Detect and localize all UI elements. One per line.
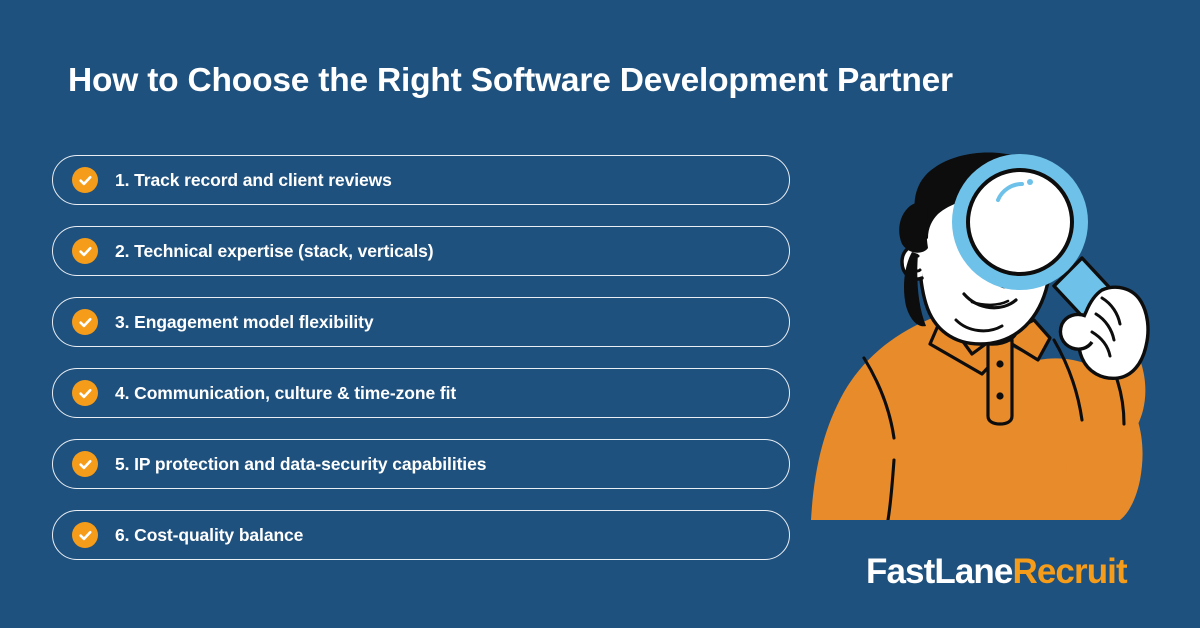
shirt-button [996,360,1003,367]
check-circle-icon [72,380,98,406]
list-item-label: 4. Communication, culture & time-zone fi… [115,383,456,404]
list-item-label: 5. IP protection and data-security capab… [115,454,486,475]
list-item[interactable]: 4. Communication, culture & time-zone fi… [52,368,790,418]
list-item[interactable]: 3. Engagement model flexibility [52,297,790,347]
shirt-button [996,392,1003,399]
check-circle-icon [72,309,98,335]
check-circle-icon [72,451,98,477]
check-circle-icon [72,238,98,264]
man-with-magnifying-glass-illustration [806,148,1200,520]
list-item-label: 1. Track record and client reviews [115,170,392,191]
logo-text-accent: Recruit [1012,552,1126,591]
logo-text-primary: FastLane [866,552,1012,591]
list-item[interactable]: 2. Technical expertise (stack, verticals… [52,226,790,276]
list-item-label: 3. Engagement model flexibility [115,312,374,333]
list-item[interactable]: 5. IP protection and data-security capab… [52,439,790,489]
list-item[interactable]: 6. Cost-quality balance [52,510,790,560]
check-circle-icon [72,522,98,548]
infographic-canvas: How to Choose the Right Software Develop… [0,0,1200,628]
check-circle-icon [72,167,98,193]
brand-logo: FastLaneRecruit [866,552,1127,592]
list-item-label: 6. Cost-quality balance [115,525,303,546]
lens-sparkle [1027,179,1033,185]
list-item[interactable]: 1. Track record and client reviews [52,155,790,205]
page-title: How to Choose the Right Software Develop… [68,58,1138,104]
list-item-label: 2. Technical expertise (stack, verticals… [115,241,434,262]
checklist: 1. Track record and client reviews 2. Te… [52,155,790,560]
